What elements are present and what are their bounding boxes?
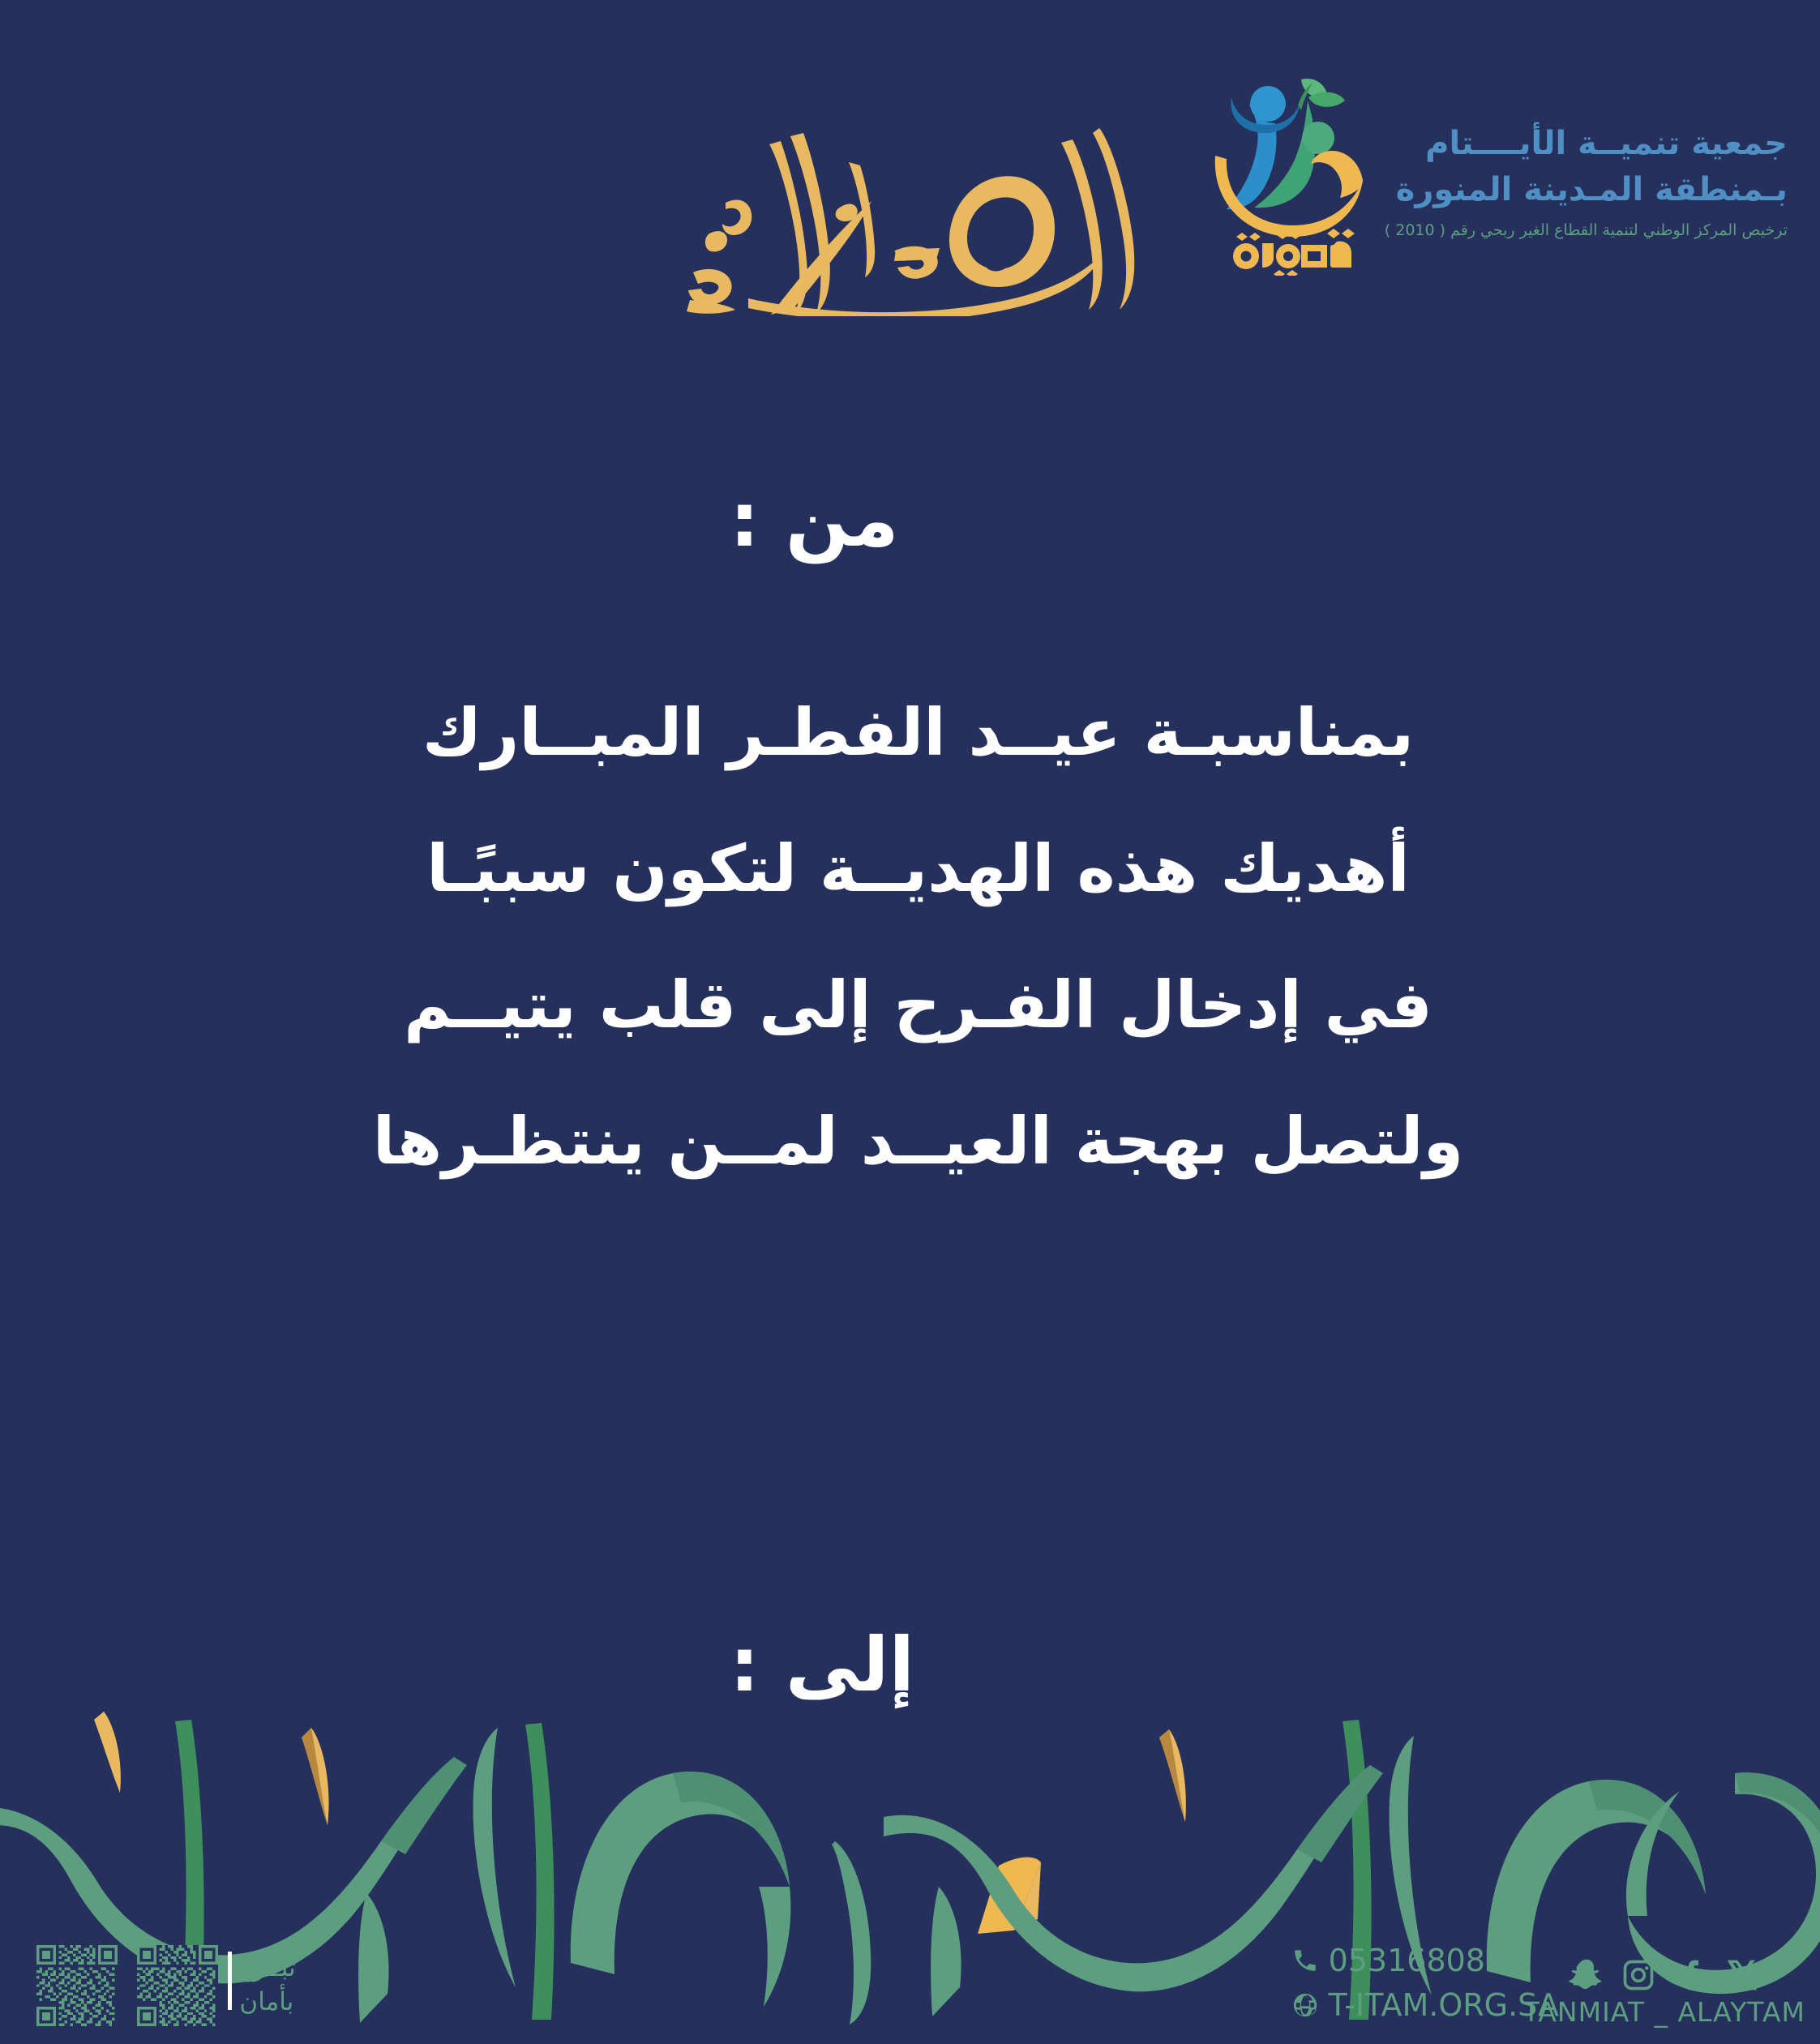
org-name-line-2: بـمنطقة المـدينة المنورة [1385,167,1788,213]
message-line: بمناسبـة عيــد الفطـر المبــارك [211,665,1625,801]
social-media-block: TANMIAT _ ALAYTAM [1523,1957,1805,2028]
message-line: ولتصل بهجة العيــد لمــن ينتظـرها [211,1073,1625,1210]
social-icons-row [1523,1957,1805,1993]
website-row[interactable]: T-ITAM.ORG.SA [1291,1983,1559,2028]
donate-qr-code-1[interactable] [36,1945,118,2026]
qr-caption-line-2: بأمان [238,1986,296,2020]
poster-canvas: جمعية تنميــة الأيــــتام بـمنطقة المـدي… [0,0,1820,2044]
organization-logo-block: جمعية تنميــة الأيــــتام بـمنطقة المـدي… [1204,73,1788,276]
message-line: أهديك هذه الهديــة لتكون سببًـا [211,801,1625,937]
message-line: في إدخال الفـرح إلى قلب يتيــم [211,937,1625,1073]
qr-caption: تبــرع بأمان [238,1952,301,2020]
license-text: ترخيص المركز الوطني لتنمية القطاع الغير … [1385,221,1788,239]
phone-icon [1291,1947,1319,1974]
charity-hand-figure-logo-icon [1204,73,1370,276]
footer-divider [228,1952,232,2010]
social-handle: TANMIAT _ ALAYTAM [1523,1996,1805,2028]
message-body: بمناسبـة عيــد الفطـر المبــارك أهديك هذ… [0,665,1820,1210]
phone-row[interactable]: 0531680800 [1291,1939,1559,1983]
qr-caption-line-1: تبــرع [238,1952,296,1986]
qr-code-group: تبــرع بأمان [36,1945,301,2026]
donate-qr-code-2[interactable] [137,1945,218,2026]
org-name-line-1: جمعية تنميــة الأيــــتام [1385,121,1788,167]
facebook-icon[interactable] [1672,1957,1708,1993]
instagram-icon[interactable] [1621,1957,1656,1993]
footer-bar: تبــرع بأمان [0,1935,1820,2044]
snapchat-icon[interactable] [1569,1957,1604,1993]
globe-icon [1291,1991,1319,2019]
organization-name-text: جمعية تنميــة الأيــــتام بـمنطقة المـدي… [1385,109,1788,240]
contact-info: 0531680800 T-ITAM.ORG.SA [1291,1939,1559,2028]
phone-number: 0531680800 [1329,1939,1525,1983]
from-label: من : [730,477,1820,563]
x-twitter-icon[interactable] [1724,1957,1760,1993]
